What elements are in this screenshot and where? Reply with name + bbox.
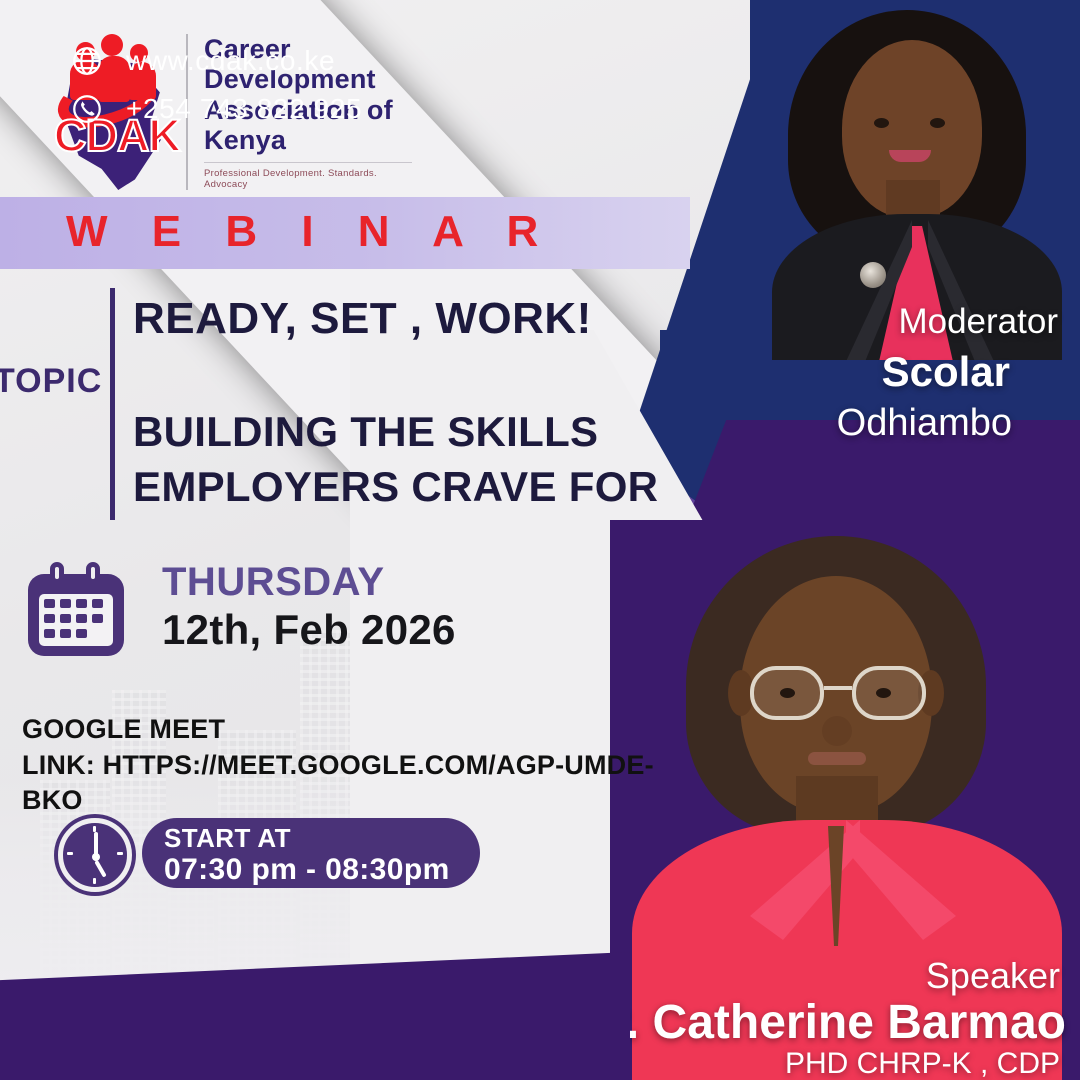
eyeglasses	[750, 666, 926, 720]
clock-icon	[58, 818, 132, 892]
topic-headline: READY, SET , WORK!	[133, 294, 592, 344]
phone-row[interactable]: +254 743 822 925	[70, 92, 362, 126]
org-tagline: Professional Development. Standards. Adv…	[204, 168, 412, 190]
time-range: 07:30 pm - 08:30pm	[164, 853, 450, 888]
meeting-link[interactable]: LINK: HTTPS://MEET.GOOGLE.COM/AGP-UMDE-B…	[22, 748, 682, 817]
moderator-last-name: Odhiambo	[837, 402, 1012, 445]
org-line-4: Kenya	[204, 125, 412, 155]
start-at-label: START AT	[164, 824, 450, 853]
topic-divider	[110, 288, 115, 520]
start-time-pill: START AT 07:30 pm - 08:30pm	[142, 818, 480, 888]
topic-subject: BUILDING THE SKILLS EMPLOYERS CRAVE FOR	[133, 405, 658, 514]
webinar-poster: CDAK Career Development Association of K…	[0, 0, 1080, 1080]
logo-rule	[204, 162, 412, 163]
moderator-first-name: Scolar	[882, 348, 1010, 396]
webinar-label: W E B I N A R	[66, 207, 554, 257]
website-row[interactable]: www.cdak.co.ke	[70, 44, 335, 78]
speaker-name: Dr. Catherine Barmao	[575, 995, 1066, 1050]
phone-number[interactable]: +254 743 822 925	[126, 93, 362, 125]
speaker-role-label: Speaker	[926, 955, 1060, 997]
event-date: 12th, Feb 2026	[162, 606, 456, 654]
globe-icon	[70, 44, 104, 78]
webinar-banner: W E B I N A R	[0, 197, 690, 269]
moderator-role-label: Moderator	[898, 302, 1058, 342]
website-url[interactable]: www.cdak.co.ke	[126, 45, 335, 77]
meeting-platform-label: GOOGLE MEET	[22, 714, 225, 745]
topic-label: TOPIC	[0, 362, 102, 401]
calendar-icon	[28, 560, 124, 656]
phone-icon	[70, 92, 104, 126]
event-weekday: THURSDAY	[162, 560, 385, 605]
speaker-credentials: PHD CHRP-K , CDP	[785, 1047, 1060, 1080]
